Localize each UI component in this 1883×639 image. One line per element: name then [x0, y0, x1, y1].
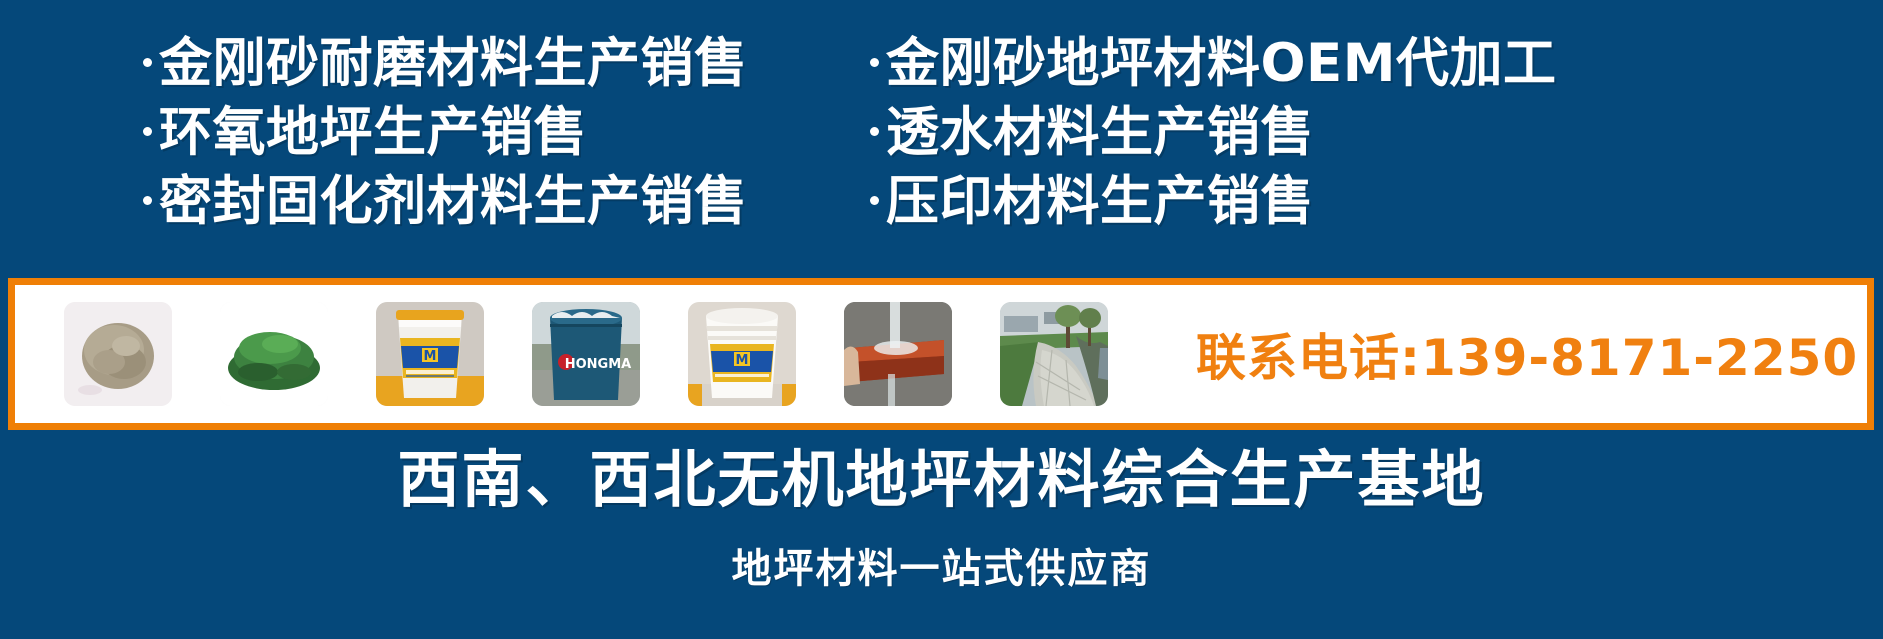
- product-strip: M HONGMA: [8, 278, 1874, 430]
- feature-item: 透水材料生产销售: [870, 103, 1883, 162]
- product-thumbnail-list: M HONGMA: [15, 302, 1108, 406]
- feature-column-left: 金刚砂耐磨材料生产销售 环氧地坪生产销售 密封固化剂材料生产销售: [0, 34, 720, 274]
- feature-label: 密封固化剂材料生产销售: [159, 172, 748, 231]
- feature-label: 金刚砂耐磨材料生产销售: [159, 34, 748, 93]
- feature-label: 环氧地坪生产销售: [159, 103, 587, 162]
- bullet-icon: [143, 58, 152, 67]
- bullet-icon: [870, 196, 879, 205]
- bullet-icon: [143, 196, 152, 205]
- permeable-paver-sample-thumbnail: [844, 302, 952, 406]
- sub-headline: 地坪材料一站式供应商: [0, 545, 1883, 593]
- concrete-sealer-bucket-thumbnail: M: [376, 302, 484, 406]
- svg-text:M: M: [736, 353, 749, 368]
- feature-label: 金刚砂地坪材料OEM代加工: [886, 34, 1557, 93]
- feature-label: 压印材料生产销售: [886, 172, 1314, 231]
- epoxy-floor-coating-bucket-thumbnail: M: [688, 302, 796, 406]
- svg-text:HONGMA: HONGMA: [565, 357, 631, 372]
- feature-lists: 金刚砂耐磨材料生产销售 环氧地坪生产销售 密封固化剂材料生产销售 金刚砂地坪材料…: [0, 34, 1883, 274]
- bullet-icon: [870, 58, 879, 67]
- feature-item: 环氧地坪生产销售: [143, 103, 720, 162]
- hongma-blue-drum-thumbnail: HONGMA: [532, 302, 640, 406]
- feature-item: 金刚砂地坪材料OEM代加工: [870, 34, 1883, 93]
- feature-label: 透水材料生产销售: [886, 103, 1314, 162]
- feature-item: 压印材料生产销售: [870, 172, 1883, 231]
- contact-phone[interactable]: 联系电话:139-8171-2250: [1196, 318, 1858, 390]
- green-pigment-powder-thumbnail: [220, 302, 328, 406]
- stamped-concrete-walkway-thumbnail: [1000, 302, 1108, 406]
- feature-item: 密封固化剂材料生产销售: [143, 172, 720, 231]
- grey-abrasive-powder-thumbnail: [64, 302, 172, 406]
- main-headline: 西南、西北无机地坪材料综合生产基地: [0, 444, 1883, 516]
- feature-column-right: 金刚砂地坪材料OEM代加工 透水材料生产销售 压印材料生产销售: [720, 34, 1883, 274]
- bullet-icon: [870, 127, 879, 136]
- bullet-icon: [143, 127, 152, 136]
- svg-text:M: M: [424, 349, 437, 364]
- feature-item: 金刚砂耐磨材料生产销售: [143, 34, 720, 93]
- advertising-banner: 金刚砂耐磨材料生产销售 环氧地坪生产销售 密封固化剂材料生产销售 金刚砂地坪材料…: [0, 0, 1883, 639]
